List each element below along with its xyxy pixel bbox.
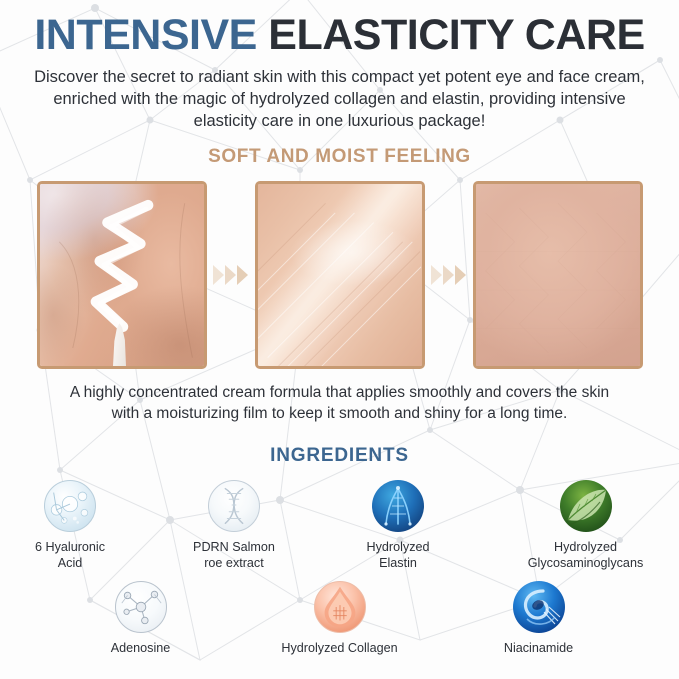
- chevron-right-icon: [237, 265, 248, 285]
- panel-sequence: [0, 181, 679, 369]
- ingredient-label: Hydrolyzed Collagen: [281, 640, 397, 656]
- chevron-right-icon: [455, 265, 466, 285]
- green-leaf-icon: [560, 480, 612, 532]
- ingredient-adenosine: Adenosine: [82, 581, 200, 656]
- niacinamide-swirl-icon: [513, 581, 565, 633]
- ingredient-label: Hydrolyzed Elastin: [367, 539, 430, 571]
- chevron-right-icon: [213, 265, 224, 285]
- chevron-right-icon: [431, 265, 442, 285]
- page-title: INTENSIVE ELASTICITY CARE: [0, 0, 679, 57]
- page-title-primary: INTENSIVE: [34, 11, 257, 59]
- page-subheading: Discover the secret to radiant skin with…: [30, 67, 650, 132]
- ingredients-row-1: 6 Hyaluronic Acid: [0, 480, 679, 571]
- panel-smooth-skin: [473, 181, 643, 369]
- page-title-secondary: ELASTICITY CARE: [268, 11, 644, 59]
- ingredient-label: Hydrolyzed Glycosaminoglycans: [528, 539, 644, 571]
- feeling-caption: A highly concentrated cream formula that…: [57, 383, 623, 425]
- ingredient-label: 6 Hyaluronic Acid: [35, 539, 105, 571]
- panel-cream-application: [37, 181, 207, 369]
- ingredient-label: Adenosine: [111, 640, 171, 656]
- molecule-icon: [115, 581, 167, 633]
- panel-image-smooth-skin: [476, 184, 640, 366]
- chevron-right-icon: [225, 265, 236, 285]
- ingredient-hyaluronic-acid: 6 Hyaluronic Acid: [11, 480, 129, 571]
- ingredient-hydrolyzed-collagen: Hydrolyzed Collagen: [270, 581, 410, 656]
- collagen-droplet-icon: [314, 581, 366, 633]
- dna-helix-icon: [208, 480, 260, 532]
- arrow-group-2: [425, 265, 473, 285]
- ingredient-label: PDRN Salmon roe extract: [193, 539, 275, 571]
- panel-cream-spread: [255, 181, 425, 369]
- ingredient-pdrn-salmon-roe: PDRN Salmon roe extract: [175, 480, 293, 571]
- water-droplets-icon: [44, 480, 96, 532]
- section-title-ingredients: INGREDIENTS: [0, 445, 679, 467]
- arrow-group-1: [207, 265, 255, 285]
- elastin-fiber-icon: [372, 480, 424, 532]
- panel-image-cream-application: [40, 184, 204, 366]
- ingredients-row-2: Adenosine Hydrolyzed Collagen: [0, 581, 679, 656]
- chevron-right-icon: [443, 265, 454, 285]
- ingredient-hydrolyzed-glycosaminoglycans: Hydrolyzed Glycosaminoglycans: [503, 480, 668, 571]
- ingredient-hydrolyzed-elastin: Hydrolyzed Elastin: [339, 480, 457, 571]
- section-title-feeling: SOFT AND MOIST FEELING: [0, 146, 679, 168]
- ingredient-niacinamide: Niacinamide: [480, 581, 598, 656]
- infographic-page: INTENSIVE ELASTICITY CARE Discover the s…: [0, 0, 679, 679]
- ingredient-label: Niacinamide: [504, 640, 573, 656]
- panel-image-cream-spread: [258, 184, 422, 366]
